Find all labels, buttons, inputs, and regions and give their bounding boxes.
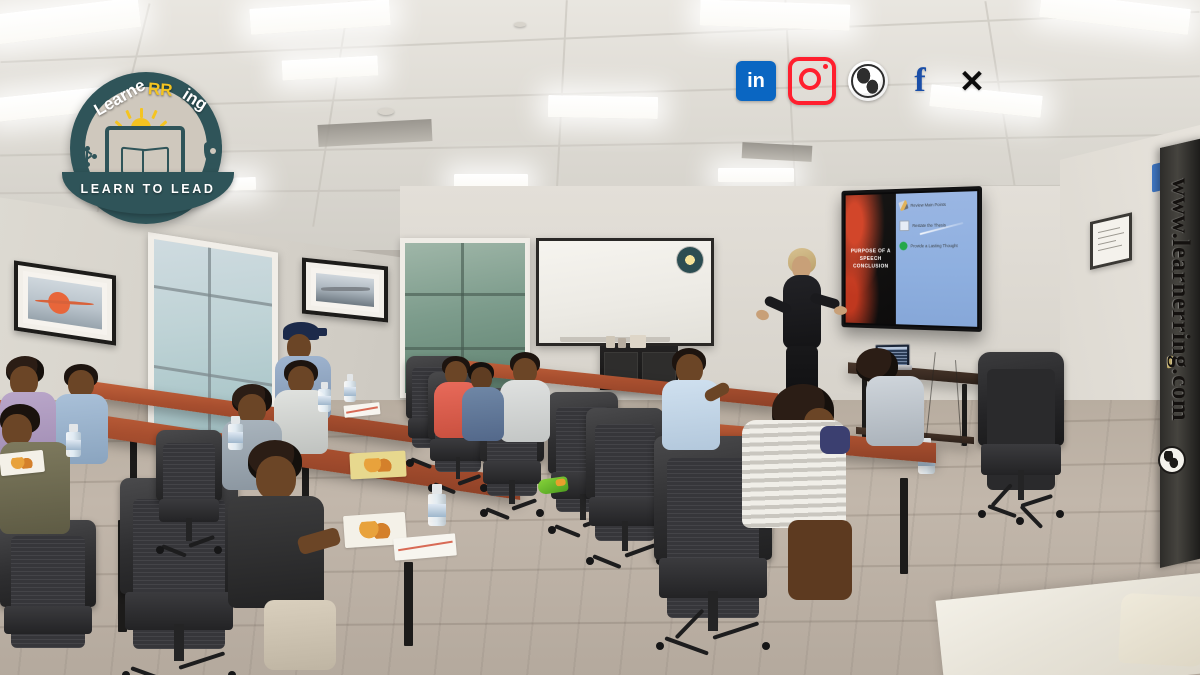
- snack-tray: [349, 451, 406, 480]
- smoke-detector-icon: [514, 22, 526, 27]
- slide-bullet: Review Main Points: [900, 199, 974, 210]
- website-url: www.learnerring.com: [1166, 178, 1194, 421]
- whiteboard-logo-decal: [677, 247, 703, 273]
- pencil-icon: [899, 200, 909, 211]
- office-chair[interactable]: [586, 408, 664, 570]
- water-bottle[interactable]: [428, 484, 446, 526]
- wall-mounted-tv: PURPOSE OF A SPEECH CONCLUSION Review Ma…: [841, 186, 982, 332]
- executive-chair[interactable]: [978, 352, 1064, 520]
- learnerring-logo: Learne RR ing: [62, 72, 234, 222]
- water-bottle[interactable]: [318, 382, 331, 412]
- framed-certificate: [1090, 212, 1132, 270]
- presentation-slide: PURPOSE OF A SPEECH CONCLUSION Review Ma…: [846, 191, 978, 327]
- social-icon-bar: in f ✕: [736, 56, 988, 106]
- slide-bullet-panel: Review Main Points Restate the Thesis Pr…: [896, 191, 977, 327]
- smoke-detector-icon: [378, 108, 394, 115]
- ceiling-light-panel: [700, 0, 851, 31]
- document-icon: [900, 220, 910, 231]
- logo-tagline-banner: LEARN TO LEAD: [62, 164, 234, 222]
- green-dot-icon: [900, 242, 908, 251]
- logo-tagline: LEARN TO LEAD: [62, 182, 234, 196]
- supply-cups: [604, 334, 658, 348]
- whiteboard: [536, 238, 714, 346]
- osprey-photo: [302, 257, 388, 322]
- globe-icon[interactable]: [848, 61, 888, 101]
- slide-bullet: Provide a Lasting Thought: [900, 241, 974, 250]
- x-icon[interactable]: ✕: [952, 61, 992, 101]
- office-chair[interactable]: [156, 430, 222, 556]
- water-bottle[interactable]: [66, 424, 81, 457]
- globe-icon: [1158, 446, 1186, 474]
- water-bottle[interactable]: [228, 416, 243, 450]
- slide-bullet-label: Review Main Points: [911, 202, 946, 208]
- slide-title: PURPOSE OF A SPEECH CONCLUSION: [849, 247, 892, 271]
- student: [866, 358, 930, 454]
- student: [226, 440, 336, 670]
- slide-title-panel: PURPOSE OF A SPEECH CONCLUSION: [846, 194, 897, 324]
- student: [500, 352, 552, 444]
- student: [462, 362, 506, 442]
- facebook-icon[interactable]: f: [900, 61, 940, 101]
- instagram-icon[interactable]: [788, 57, 836, 105]
- classroom-photo-stage: PURPOSE OF A SPEECH CONCLUSION Review Ma…: [0, 0, 1200, 675]
- ceiling-light-panel: [548, 95, 658, 119]
- student: [742, 384, 862, 604]
- linkedin-icon[interactable]: in: [736, 61, 776, 101]
- slide-bullet-label: Provide a Lasting Thought: [911, 243, 958, 248]
- snack-tray: [0, 450, 45, 476]
- student: [0, 404, 76, 564]
- ceiling-light-panel: [718, 168, 794, 182]
- water-bottle[interactable]: [344, 374, 356, 402]
- student: [660, 348, 722, 458]
